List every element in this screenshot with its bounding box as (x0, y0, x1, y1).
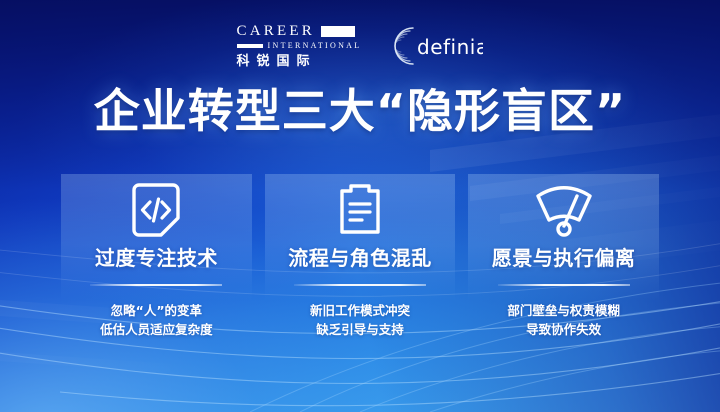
poster-title: 企业转型三大“隐形盲区” (0, 88, 720, 134)
career-international-logo: CAREER INTERNATIONAL 科锐国际 (237, 24, 362, 68)
card-subtitle: 部门壁垒与权责模糊 导致协作失效 (507, 301, 620, 340)
card-overfocus-technology: 过度专注技术 忽略“人”的变革 低估人员适应复杂度 (61, 174, 252, 340)
card-title: 愿景与执行偏离 (492, 248, 636, 268)
definia-logo: definia (387, 24, 483, 68)
career-logo-bar-mark (237, 44, 263, 48)
card-subtitle-line2: 缺乏引导与支持 (310, 320, 410, 339)
career-logo-subwordmark: INTERNATIONAL (268, 42, 362, 50)
card-subtitle: 忽略“人”的变革 低估人员适应复杂度 (100, 301, 213, 340)
card-subtitle: 新旧工作模式冲突 缺乏引导与支持 (310, 301, 410, 340)
definia-logo-wordmark: definia (417, 35, 483, 59)
code-document-icon (131, 174, 181, 248)
card-subtitle-line1: 新旧工作模式冲突 (310, 301, 410, 320)
career-logo-wordmark: CAREER (237, 24, 315, 39)
career-logo-line2: INTERNATIONAL (237, 42, 362, 50)
card-subtitle-line1: 部门壁垒与权责模糊 (507, 301, 620, 320)
card-divider (90, 284, 222, 286)
card-title: 流程与角色混乱 (288, 248, 432, 268)
career-logo-line1: CAREER (237, 24, 355, 39)
clipboard-document-icon (336, 174, 384, 248)
gauge-compass-icon-graphic (533, 182, 595, 240)
code-document-icon-graphic (131, 182, 181, 240)
definia-logo-graphic: definia (387, 24, 483, 68)
gauge-compass-icon (533, 174, 595, 248)
clipboard-document-icon-graphic (336, 182, 384, 240)
card-subtitle-line2: 低估人员适应复杂度 (100, 320, 213, 339)
card-subtitle-line2: 导致协作失效 (507, 320, 620, 339)
career-logo-block-mark (321, 26, 355, 37)
card-title: 过度专注技术 (95, 248, 218, 268)
poster-canvas: CAREER INTERNATIONAL 科锐国际 definia (0, 0, 720, 412)
card-divider (294, 284, 426, 286)
card-process-role-confusion: 流程与角色混乱 新旧工作模式冲突 缺乏引导与支持 (265, 174, 456, 340)
card-content-row: 过度专注技术 忽略“人”的变革 低估人员适应复杂度 流程与角色混乱 新旧工作模式… (61, 174, 659, 340)
career-logo-chinese-name: 科锐国际 (237, 55, 317, 68)
card-subtitle-line1: 忽略“人”的变革 (100, 301, 213, 320)
card-vision-execution-gap: 愿景与执行偏离 部门壁垒与权责模糊 导致协作失效 (468, 174, 659, 340)
card-divider (498, 284, 630, 286)
logo-row: CAREER INTERNATIONAL 科锐国际 definia (0, 24, 720, 68)
